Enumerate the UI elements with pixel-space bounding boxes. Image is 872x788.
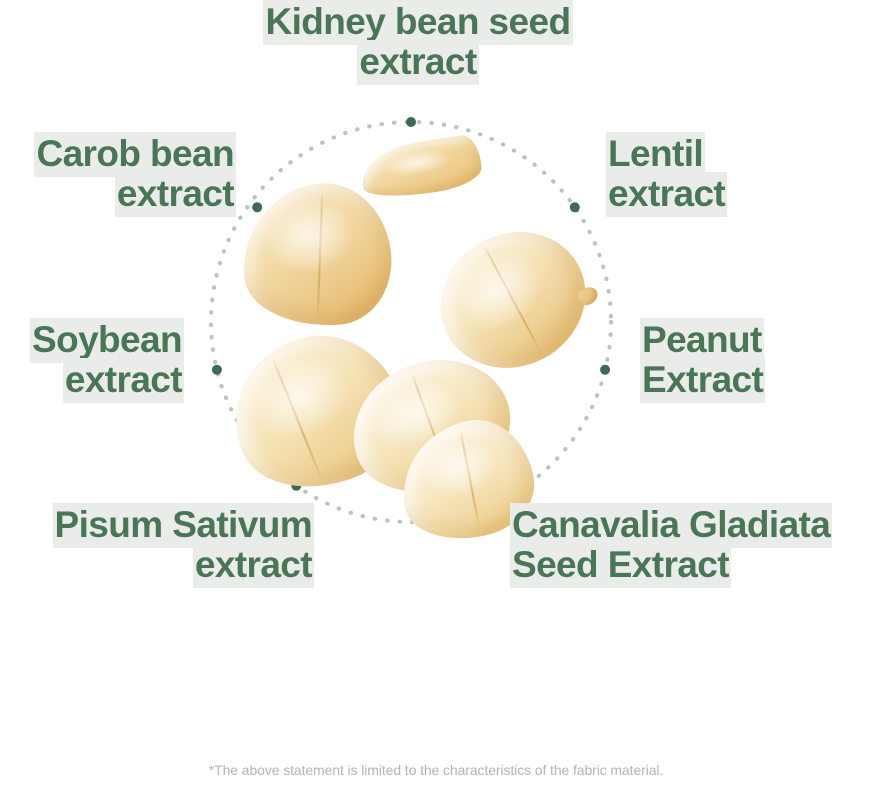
- infographic-canvas: Kidney bean seed extract Carob bean extr…: [0, 0, 872, 788]
- label-kidney-bean-seed-extract: Kidney bean seed extract: [238, 2, 598, 82]
- label-line: Seed Extract: [510, 543, 731, 588]
- label-line: extract: [606, 172, 727, 217]
- label-line: Canavalia Gladiata: [510, 503, 832, 548]
- label-peanut-extract: Peanut Extract: [640, 320, 872, 400]
- ingredient-circle: [211, 122, 611, 522]
- label-line: Peanut: [640, 318, 764, 363]
- label-line: extract: [357, 40, 478, 85]
- marker-left-dot: [212, 365, 222, 375]
- label-canavalia-gladiata-seed-extract: Canavalia Gladiata Seed Extract: [510, 505, 872, 585]
- label-line: extract: [193, 543, 314, 588]
- label-line: Carob bean: [34, 132, 236, 177]
- label-line: Pisum Sativum: [53, 503, 314, 548]
- label-line: Extract: [640, 358, 765, 403]
- label-pisum-sativum-extract: Pisum Sativum extract: [0, 505, 314, 585]
- marker-top-dot: [406, 117, 416, 127]
- label-soybean-extract: Soybean extract: [0, 320, 184, 400]
- label-line: Soybean: [30, 318, 184, 363]
- footnote-disclaimer: *The above statement is limited to the c…: [0, 762, 872, 778]
- label-line: extract: [115, 172, 236, 217]
- label-line: Lentil: [606, 132, 705, 177]
- label-line: Kidney bean seed: [263, 0, 572, 45]
- marker-right-dot: [600, 365, 610, 375]
- label-line: extract: [63, 358, 184, 403]
- label-lentil-extract: Lentil extract: [606, 134, 872, 214]
- marker-upper-right-dot: [570, 202, 580, 212]
- label-carob-bean-extract: Carob bean extract: [0, 134, 236, 214]
